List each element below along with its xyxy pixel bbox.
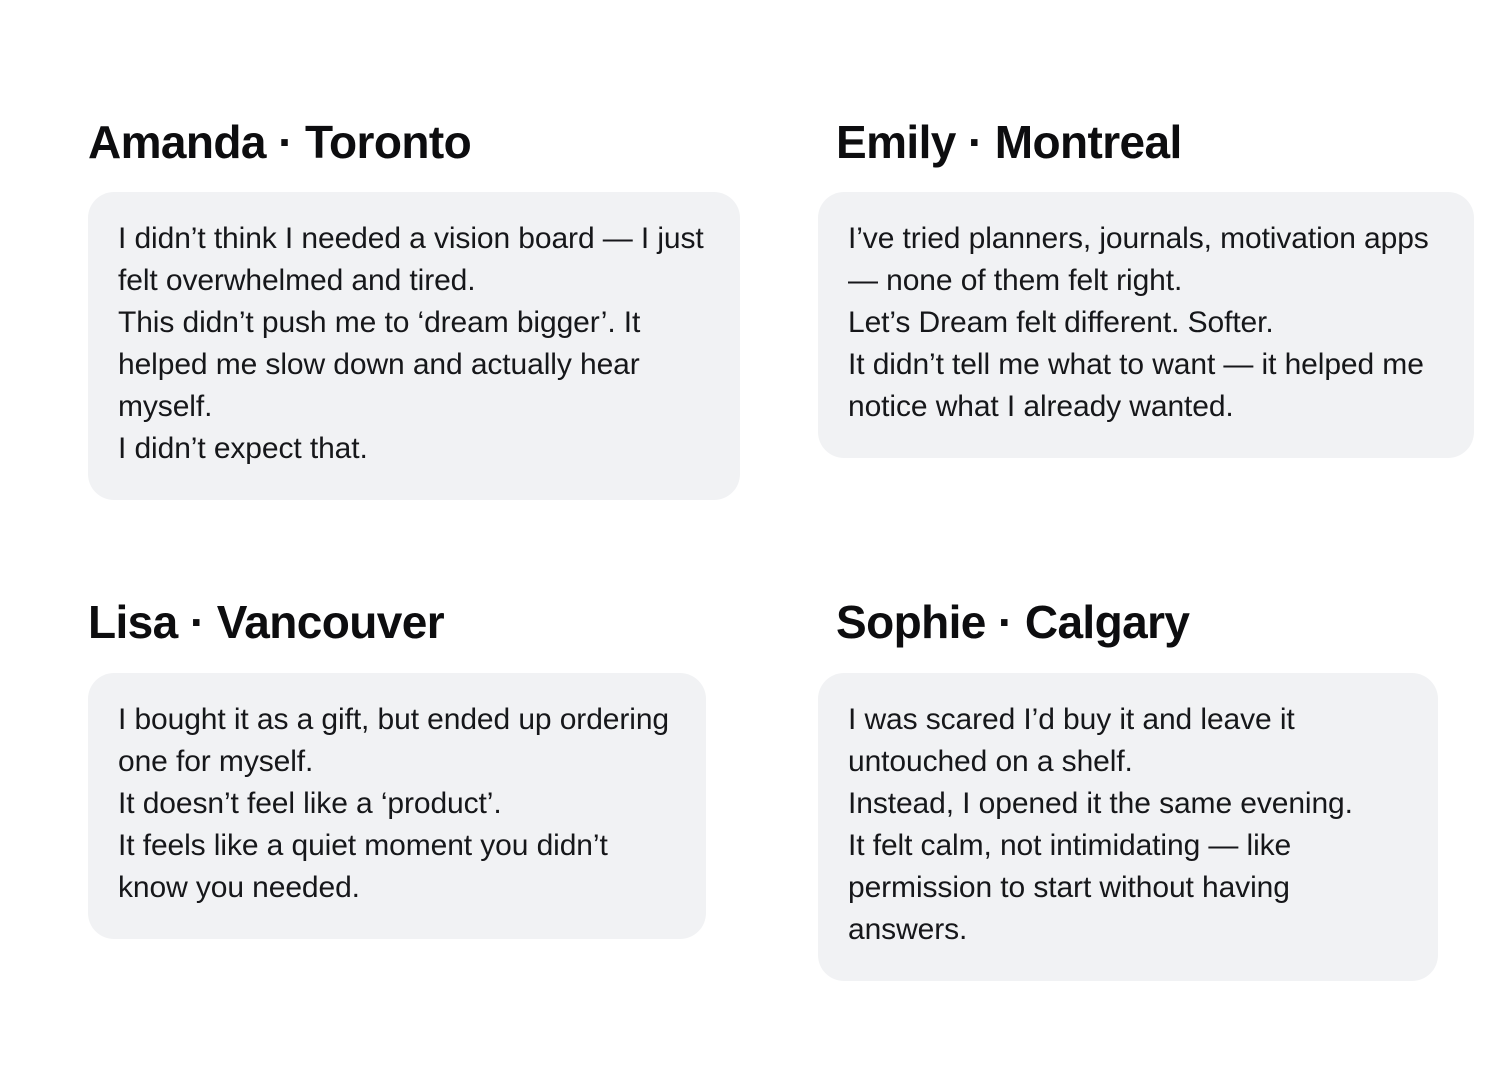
quote-line: I didn’t expect that. [118, 428, 706, 470]
testimonial-grid: Amanda · Toronto I didn’t think I needed… [0, 0, 1500, 1076]
quote-line: It feels like a quiet moment you didn’t … [118, 825, 672, 909]
quote-bubble-sophie: I was scared I’d buy it and leave it unt… [818, 673, 1438, 981]
quote-line: This didn’t push me to ‘dream bigger’. I… [118, 302, 706, 428]
quote-line: It doesn’t feel like a ‘product’. [118, 783, 672, 825]
quote-bubble-emily: I’ve tried planners, journals, motivatio… [818, 192, 1474, 458]
quote-line: I didn’t think I needed a vision board —… [118, 218, 706, 302]
testimonial-heading-lisa: Lisa · Vancouver [88, 598, 800, 646]
testimonial-card-sophie: Sophie · Calgary I was scared I’d buy it… [800, 500, 1500, 980]
quote-line: I’ve tried planners, journals, motivatio… [848, 218, 1440, 302]
quote-bubble-amanda: I didn’t think I needed a vision board —… [88, 192, 740, 500]
testimonial-card-lisa: Lisa · Vancouver I bought it as a gift, … [88, 500, 800, 980]
quote-line: It felt calm, not intimidating — like pe… [848, 825, 1404, 951]
testimonial-card-amanda: Amanda · Toronto I didn’t think I needed… [88, 118, 800, 500]
quote-line: I bought it as a gift, but ended up orde… [118, 699, 672, 783]
testimonial-card-emily: Emily · Montreal I’ve tried planners, jo… [800, 118, 1500, 500]
quote-line: I was scared I’d buy it and leave it unt… [848, 699, 1404, 783]
testimonial-heading-amanda: Amanda · Toronto [88, 118, 800, 166]
quote-line: Let’s Dream felt different. Softer. [848, 302, 1440, 344]
quote-bubble-lisa: I bought it as a gift, but ended up orde… [88, 673, 706, 939]
quote-line: Instead, I opened it the same evening. [848, 783, 1404, 825]
quote-line: It didn’t tell me what to want — it help… [848, 344, 1440, 428]
testimonial-heading-emily: Emily · Montreal [836, 118, 1500, 166]
testimonial-heading-sophie: Sophie · Calgary [836, 598, 1500, 646]
